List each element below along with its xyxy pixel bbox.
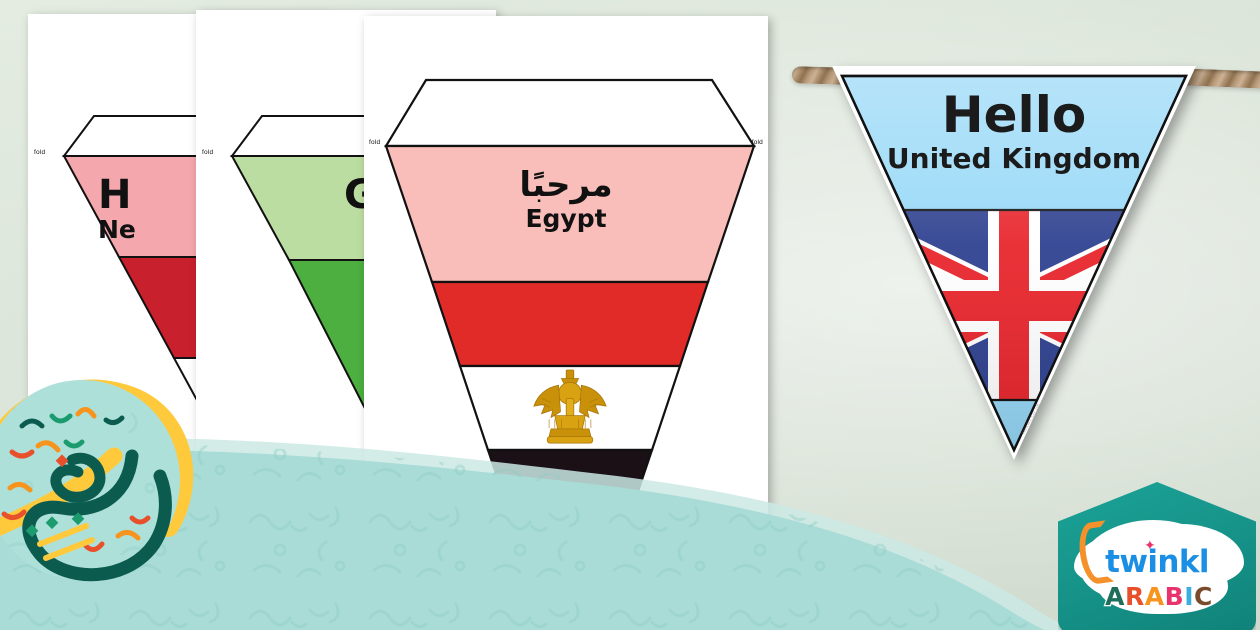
fold-label-left: fold [34, 149, 45, 156]
fold-label-left: fold [202, 149, 213, 156]
twinkl-logo[interactable]: ✦ twinkl ARABIC [1058, 482, 1256, 630]
fold-label-right: fold [752, 139, 763, 146]
twinkl-arabic-wordmark: ARABIC [1086, 582, 1232, 611]
fold-label-left: fold [369, 139, 380, 146]
arabic-calligraphy-badge [0, 368, 196, 598]
poster-scene: fold H Ne fold G [0, 0, 1260, 630]
twinkl-wordmark: twinkl [1092, 544, 1222, 580]
